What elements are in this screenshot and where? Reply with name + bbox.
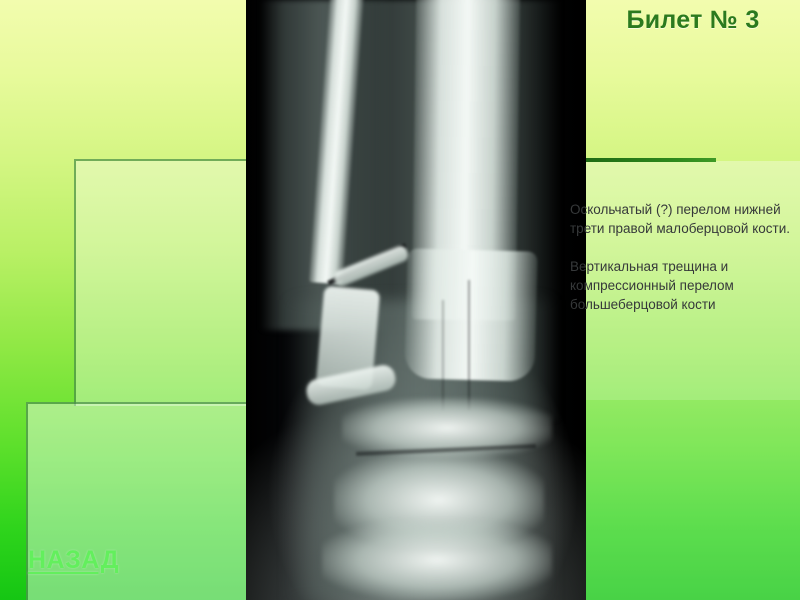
diagnosis-paragraph-1: Оскольчатый (?) перелом нижней трети пра… [570,200,795,238]
diagnosis-text-block: Оскольчатый (?) перелом нижней трети пра… [570,200,795,314]
slide-canvas: Билет № 3 Оскольчатый (?) перелом нижней… [0,0,800,600]
tibia-compression-line [442,300,444,410]
ankle-xray-image [246,0,586,600]
title-divider-rule [586,158,716,162]
tibia-distal-metaphysis [404,248,537,381]
calcaneus [322,520,552,600]
decorative-panel-upper-left [74,159,251,406]
page-title: Билет № 3 [586,6,800,35]
tibia-vertical-fissure [468,280,470,410]
back-link[interactable]: НАЗАД [28,546,119,575]
diagnosis-paragraph-2: Вертикальная трещина и компрессионный пе… [570,257,795,314]
decorative-panel-right-lower [586,400,800,600]
